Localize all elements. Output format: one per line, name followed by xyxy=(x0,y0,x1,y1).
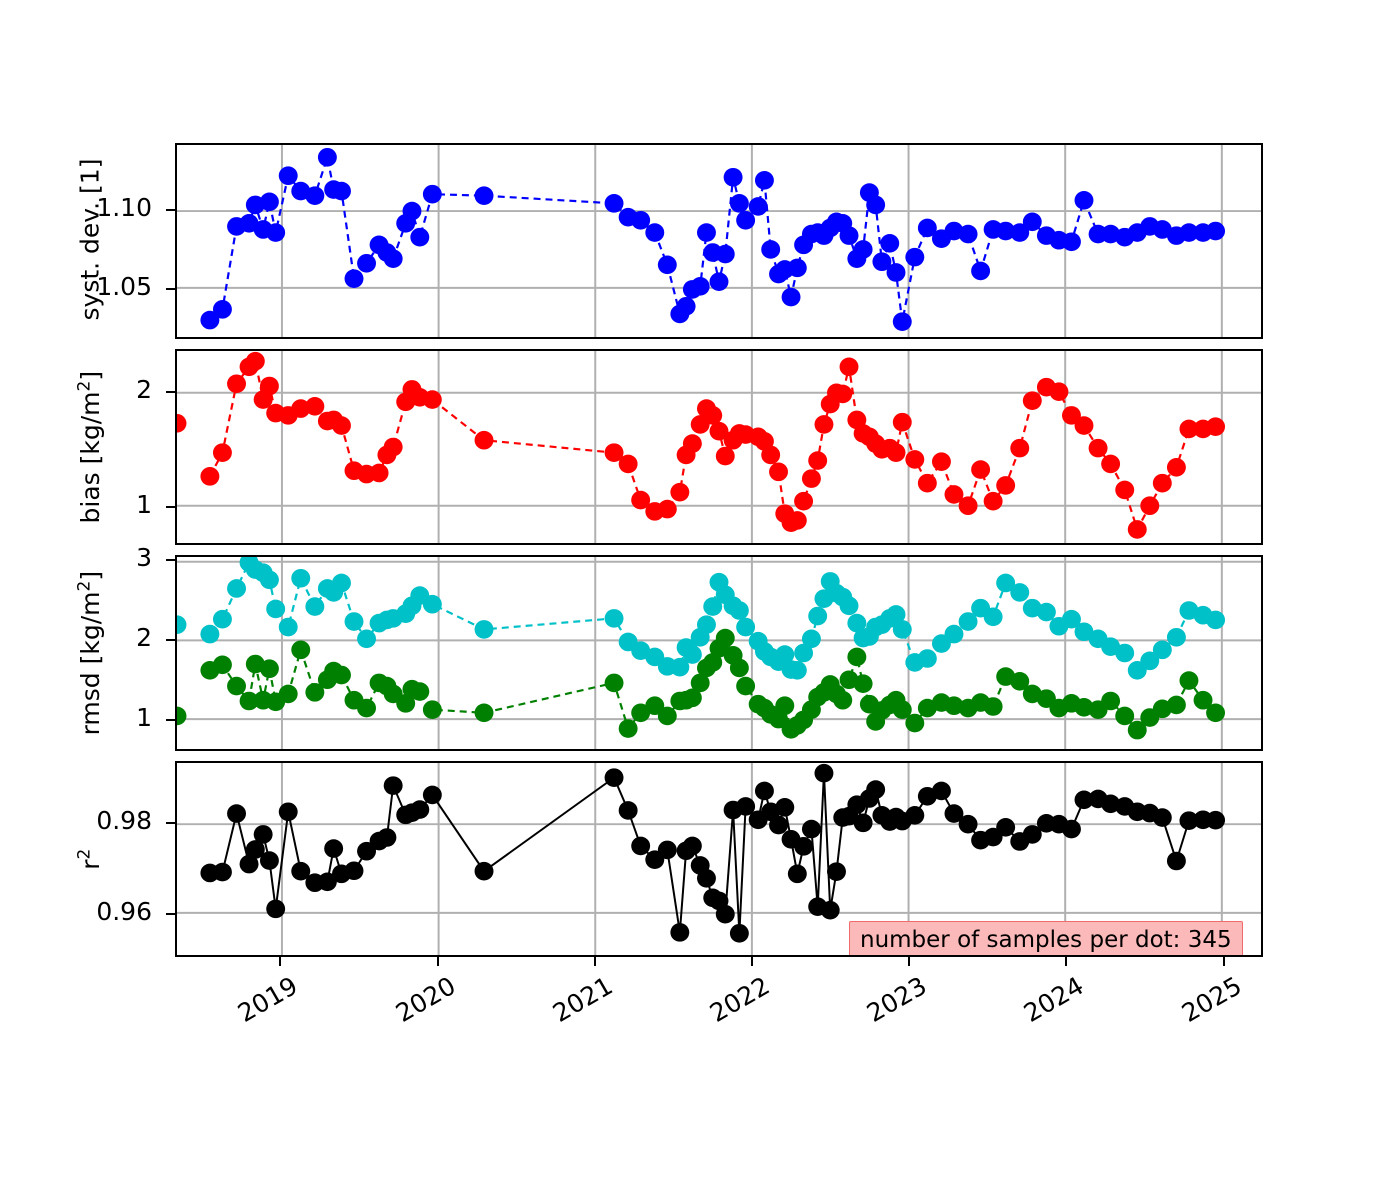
data-point xyxy=(605,674,624,693)
data-point xyxy=(827,862,846,881)
data-point xyxy=(260,851,279,870)
data-point xyxy=(345,269,364,288)
data-point xyxy=(1115,481,1134,500)
data-point xyxy=(377,828,396,847)
data-point xyxy=(410,682,429,701)
data-point xyxy=(200,625,219,644)
data-point xyxy=(658,255,677,274)
plot-area-bias xyxy=(177,351,1261,543)
data-point xyxy=(1023,391,1042,410)
x-tick-mark xyxy=(279,957,281,966)
data-point xyxy=(847,648,866,667)
data-point xyxy=(854,674,873,693)
x-tick-mark xyxy=(594,957,596,966)
y-tick-mark xyxy=(166,391,175,393)
data-point xyxy=(332,574,351,593)
data-point xyxy=(1167,628,1186,647)
data-point xyxy=(260,193,279,212)
y-tick-mark xyxy=(166,559,175,561)
data-point xyxy=(1179,671,1198,690)
data-point xyxy=(260,571,279,590)
data-point xyxy=(905,714,924,733)
data-point xyxy=(677,297,696,316)
data-point xyxy=(227,677,246,696)
data-point xyxy=(802,630,821,649)
data-point xyxy=(794,492,813,511)
data-point xyxy=(1153,808,1172,827)
data-point xyxy=(410,228,429,247)
data-point xyxy=(716,629,735,648)
data-point xyxy=(1167,852,1186,871)
data-point xyxy=(769,816,788,835)
data-point xyxy=(866,780,885,799)
data-point xyxy=(227,579,246,598)
data-point xyxy=(619,455,638,474)
x-tick-mark xyxy=(751,957,753,966)
data-point xyxy=(423,786,442,805)
data-point xyxy=(840,358,859,377)
data-point xyxy=(880,234,899,253)
data-point xyxy=(266,223,285,242)
x-tick-mark xyxy=(908,957,910,966)
data-point xyxy=(1101,692,1120,711)
data-point xyxy=(1206,611,1225,630)
data-point xyxy=(802,469,821,488)
series-r2-0 xyxy=(200,764,1225,943)
y-tick-mark xyxy=(166,209,175,211)
data-point xyxy=(984,607,1003,626)
y-tick-mark xyxy=(166,506,175,508)
data-point xyxy=(1037,603,1056,622)
data-point xyxy=(984,697,1003,716)
y-tick-label-rmsd-0: 1 xyxy=(20,703,152,732)
y-axis-label-r2: r2 xyxy=(75,729,105,989)
data-point xyxy=(1206,703,1225,722)
y-tick-label-rmsd-1: 2 xyxy=(20,623,152,652)
data-point xyxy=(305,186,324,205)
data-point xyxy=(761,240,780,259)
data-point xyxy=(808,607,827,626)
data-point xyxy=(423,595,442,614)
y-tick-mark xyxy=(166,822,175,824)
sample-count-annotation: number of samples per dot: 345 xyxy=(849,921,1243,957)
data-point xyxy=(840,226,859,245)
data-point xyxy=(736,618,755,637)
data-point xyxy=(357,630,376,649)
data-point xyxy=(279,802,298,821)
x-tick-label-2021: 2021 xyxy=(430,971,618,1096)
data-point xyxy=(305,397,324,416)
data-point xyxy=(833,385,852,404)
data-point xyxy=(605,768,624,787)
data-point xyxy=(996,476,1015,495)
data-point xyxy=(370,464,389,483)
data-point xyxy=(423,700,442,719)
data-point xyxy=(345,861,364,880)
data-point xyxy=(291,569,310,588)
data-point xyxy=(887,443,906,462)
data-point xyxy=(670,483,689,502)
data-point xyxy=(788,865,807,884)
data-point xyxy=(658,500,677,519)
data-point xyxy=(619,801,638,820)
data-point xyxy=(357,699,376,718)
data-point xyxy=(384,776,403,795)
data-point xyxy=(1128,520,1147,539)
data-point xyxy=(605,609,624,628)
x-tick-label-2025: 2025 xyxy=(1058,971,1246,1096)
series-bias-0 xyxy=(177,352,1225,539)
y-tick-label-syst-dev-0: 1.05 xyxy=(20,272,152,301)
data-point xyxy=(710,272,729,291)
y-tick-mark xyxy=(166,719,175,721)
data-point xyxy=(213,300,232,319)
data-point xyxy=(866,196,885,215)
x-tick-label-2019: 2019 xyxy=(115,971,303,1096)
data-point xyxy=(279,166,298,185)
data-point xyxy=(755,782,774,801)
y-tick-label-syst-dev-1: 1.10 xyxy=(20,193,152,222)
data-point xyxy=(730,659,749,678)
data-point xyxy=(384,249,403,268)
data-point xyxy=(730,194,749,213)
data-point xyxy=(631,837,650,856)
data-point xyxy=(266,600,285,619)
data-point xyxy=(794,837,813,856)
data-point xyxy=(332,416,351,435)
data-point xyxy=(932,782,951,801)
data-point xyxy=(213,863,232,882)
data-point xyxy=(788,511,807,530)
data-point xyxy=(213,443,232,462)
data-point xyxy=(357,254,376,273)
data-point xyxy=(1049,382,1068,401)
data-point xyxy=(761,446,780,465)
data-point xyxy=(971,262,990,281)
data-point xyxy=(291,641,310,660)
data-point xyxy=(697,869,716,888)
y-tick-mark xyxy=(166,913,175,915)
y-tick-label-rmsd-2: 3 xyxy=(20,543,152,572)
x-tick-label-2024: 2024 xyxy=(901,971,1089,1096)
panel-syst-dev xyxy=(175,143,1263,339)
data-point xyxy=(730,601,749,620)
data-point xyxy=(959,815,978,834)
data-point xyxy=(475,703,494,722)
data-point xyxy=(403,202,422,221)
data-point xyxy=(1153,474,1172,493)
data-point xyxy=(177,615,186,634)
x-tick-label-2020: 2020 xyxy=(272,971,460,1096)
data-point xyxy=(971,460,990,479)
plot-area-rmsd xyxy=(177,557,1261,749)
data-point xyxy=(1075,416,1094,435)
data-point xyxy=(1167,458,1186,477)
data-point xyxy=(697,615,716,634)
panel-r2: number of samples per dot: 345 xyxy=(175,761,1263,957)
data-point xyxy=(1089,439,1108,458)
y-tick-label-bias-1: 2 xyxy=(20,375,152,404)
plot-area-syst-dev xyxy=(177,145,1261,337)
data-point xyxy=(605,194,624,213)
data-point xyxy=(1167,696,1186,715)
data-point xyxy=(631,211,650,230)
data-point xyxy=(1140,496,1159,515)
data-point xyxy=(1115,644,1134,663)
data-point xyxy=(645,223,664,242)
data-point xyxy=(918,649,937,668)
data-point xyxy=(423,390,442,409)
data-point xyxy=(905,248,924,267)
data-point xyxy=(755,171,774,190)
data-point xyxy=(227,374,246,393)
data-point xyxy=(200,467,219,486)
data-point xyxy=(775,696,794,715)
data-point xyxy=(227,804,246,823)
data-point xyxy=(697,223,716,242)
data-point xyxy=(345,612,364,631)
y-tick-label-bias-0: 1 xyxy=(20,490,152,519)
data-point xyxy=(1062,232,1081,251)
data-point xyxy=(1010,439,1029,458)
y-tick-label-r2-0: 0.96 xyxy=(20,897,152,926)
data-point xyxy=(1101,455,1120,474)
data-point xyxy=(658,707,677,726)
y-tick-mark xyxy=(166,288,175,290)
data-point xyxy=(775,798,794,817)
data-point xyxy=(332,666,351,685)
data-point xyxy=(332,182,351,201)
data-point xyxy=(724,168,743,187)
data-point xyxy=(984,492,1003,511)
data-point xyxy=(788,661,807,680)
data-point xyxy=(814,415,833,434)
data-point xyxy=(730,924,749,943)
data-point xyxy=(266,900,285,919)
data-point xyxy=(475,431,494,450)
data-point xyxy=(254,825,273,844)
data-point xyxy=(959,225,978,244)
data-point xyxy=(716,905,735,924)
data-point xyxy=(1206,222,1225,241)
data-point xyxy=(893,413,912,432)
data-point xyxy=(821,901,840,920)
y-axis-label-r2-text: r2 xyxy=(76,849,105,870)
data-point xyxy=(213,655,232,674)
data-point xyxy=(716,447,735,466)
panel-bias xyxy=(175,349,1263,545)
data-point xyxy=(887,263,906,282)
data-point xyxy=(736,211,755,230)
data-point xyxy=(670,923,689,942)
series-syst_dev-0 xyxy=(200,148,1225,331)
y-tick-mark xyxy=(166,639,175,641)
data-point xyxy=(1062,820,1081,839)
data-point xyxy=(808,451,827,470)
data-point xyxy=(1206,417,1225,436)
data-point xyxy=(318,148,337,167)
x-tick-mark xyxy=(1223,957,1225,966)
data-point xyxy=(788,259,807,278)
data-point xyxy=(802,820,821,839)
data-point xyxy=(769,463,788,482)
data-point xyxy=(213,610,232,629)
y-tick-label-r2-1: 0.98 xyxy=(20,806,152,835)
data-point xyxy=(260,659,279,678)
data-point xyxy=(945,625,964,644)
data-point xyxy=(905,450,924,469)
data-point xyxy=(1153,641,1172,660)
data-point xyxy=(749,197,768,216)
data-point xyxy=(1206,811,1225,830)
data-point xyxy=(854,240,873,259)
data-point xyxy=(619,719,638,738)
data-point xyxy=(177,414,186,433)
panel-rmsd xyxy=(175,555,1263,751)
figure-canvas: syst. dev. [1] 1.05 1.10 bias [kg/m2] 1 … xyxy=(0,0,1400,1200)
data-point xyxy=(833,691,852,710)
data-point xyxy=(475,620,494,639)
data-point xyxy=(177,707,186,726)
x-tick-mark xyxy=(1065,957,1067,966)
data-point xyxy=(246,352,265,371)
data-point xyxy=(840,596,859,615)
data-point xyxy=(305,597,324,616)
data-point xyxy=(854,814,873,833)
data-point xyxy=(1010,583,1029,602)
data-point xyxy=(932,452,951,471)
data-point xyxy=(716,245,735,264)
x-tick-label-2022: 2022 xyxy=(587,971,775,1096)
data-point xyxy=(691,277,710,296)
data-point xyxy=(736,677,755,696)
data-point xyxy=(324,839,343,858)
data-point xyxy=(475,186,494,205)
x-tick-mark xyxy=(437,957,439,966)
data-point xyxy=(683,837,702,856)
data-point xyxy=(918,474,937,493)
data-point xyxy=(782,288,801,307)
data-point xyxy=(260,377,279,396)
data-point xyxy=(893,620,912,639)
data-point xyxy=(1075,191,1094,210)
data-point xyxy=(410,800,429,819)
data-point xyxy=(423,185,442,204)
data-point xyxy=(893,312,912,331)
data-point xyxy=(279,685,298,704)
data-point xyxy=(384,438,403,457)
data-point xyxy=(475,862,494,881)
data-point xyxy=(996,818,1015,837)
data-point xyxy=(959,496,978,515)
data-point xyxy=(683,645,702,664)
data-point xyxy=(683,434,702,453)
data-point xyxy=(905,806,924,825)
data-point xyxy=(814,764,833,783)
data-point xyxy=(279,618,298,637)
data-point xyxy=(1115,707,1134,726)
data-point xyxy=(658,841,677,860)
data-point xyxy=(1023,212,1042,231)
